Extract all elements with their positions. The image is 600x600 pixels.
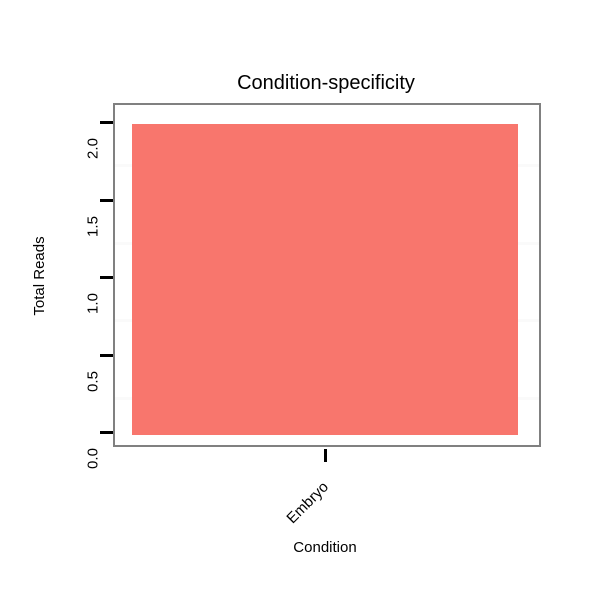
- ytick-label-0-0: 0.0: [86, 434, 101, 484]
- bar-embryo[interactable]: [132, 124, 518, 435]
- x-axis-label: Condition: [145, 540, 505, 556]
- xtick-mark: [324, 449, 327, 462]
- ytick-label-1-0: 1.0: [86, 279, 101, 329]
- ytick-mark: [100, 276, 113, 279]
- plot-area: [113, 103, 541, 447]
- chart-canvas: Condition-specificity 2.0 1.5 1.0 0.5 0.…: [0, 0, 600, 600]
- ytick-mark: [100, 121, 113, 124]
- ytick-mark: [100, 354, 113, 357]
- ytick-mark: [100, 199, 113, 202]
- ytick-label-2-0: 2.0: [86, 124, 101, 174]
- y-axis-label: Total Reads: [32, 196, 48, 356]
- xtick-label-embryo: Embryo: [282, 479, 331, 528]
- ytick-mark: [100, 431, 113, 434]
- ytick-label-0-5: 0.5: [86, 357, 101, 407]
- chart-title: Condition-specificity: [0, 71, 600, 95]
- ytick-label-1-5: 1.5: [86, 202, 101, 252]
